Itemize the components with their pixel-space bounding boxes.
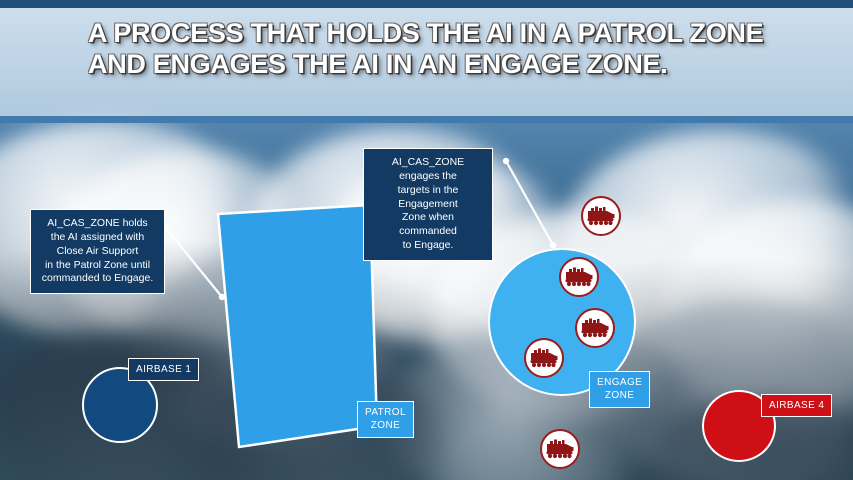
tank-icon[interactable]: [559, 257, 599, 297]
slide-canvas: A PROCESS THAT HOLDS THE AI IN A PATROL …: [0, 0, 853, 480]
label-airbase-4: AIRBASE 4: [761, 394, 832, 417]
tank-icon[interactable]: [524, 338, 564, 378]
label-line: ZONE: [597, 389, 642, 402]
callout-line: Zone when commanded: [372, 211, 484, 239]
top-accent-bar: [0, 0, 853, 8]
callout-line: targets in the Engagement: [372, 184, 484, 212]
label-line: ENGAGE: [597, 376, 642, 389]
callout-patrol-zone: AI_CAS_ZONE holds the AI assigned with C…: [30, 209, 165, 294]
tank-icon[interactable]: [581, 196, 621, 236]
callout-line: commanded to Engage.: [39, 272, 156, 286]
callout-line: AI_CAS_ZONE holds: [39, 217, 156, 231]
callout-engage-zone: AI_CAS_ZONE engages the targets in the E…: [363, 148, 493, 261]
callout-line: Close Air Support: [39, 245, 156, 259]
callout-line: in the Patrol Zone until: [39, 259, 156, 273]
callout-line: the AI assigned with: [39, 231, 156, 245]
title-band-underline: [0, 116, 853, 123]
label-patrol-zone: PATROL ZONE: [357, 401, 414, 438]
callout-line: to Engage.: [372, 239, 484, 253]
label-line: ZONE: [365, 419, 406, 432]
label-engage-zone: ENGAGE ZONE: [589, 371, 650, 408]
label-airbase-1: AIRBASE 1: [128, 358, 199, 381]
callout-line: AI_CAS_ZONE engages the: [372, 156, 484, 184]
label-line: PATROL: [365, 406, 406, 419]
tank-icon[interactable]: [540, 429, 580, 469]
tank-icon[interactable]: [575, 308, 615, 348]
page-title: A PROCESS THAT HOLDS THE AI IN A PATROL …: [88, 18, 788, 81]
